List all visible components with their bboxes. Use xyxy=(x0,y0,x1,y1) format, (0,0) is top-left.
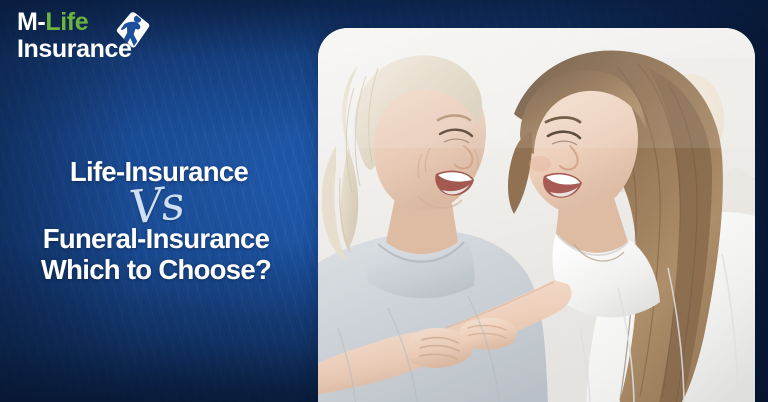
brand-logo-line2: Insurance xyxy=(17,37,132,62)
person-in-diamond-icon xyxy=(116,11,150,49)
headline-line-3: Which to Choose? xyxy=(0,256,312,284)
brand-logo[interactable]: M-Life Insurance xyxy=(17,7,149,69)
hero-photo xyxy=(318,28,755,402)
brand-logo-prefix: M- xyxy=(17,8,45,36)
headline-vs: Vs xyxy=(0,182,312,228)
brand-logo-line1: M-Life xyxy=(17,10,88,35)
banner: M-Life Insurance Life-Insurance Vs xyxy=(0,0,768,402)
brand-logo-accent: Life xyxy=(45,8,88,36)
headline-block: Life-Insurance Vs Funeral-Insurance Whic… xyxy=(0,158,312,284)
headline-vs-text: Vs xyxy=(127,175,185,234)
